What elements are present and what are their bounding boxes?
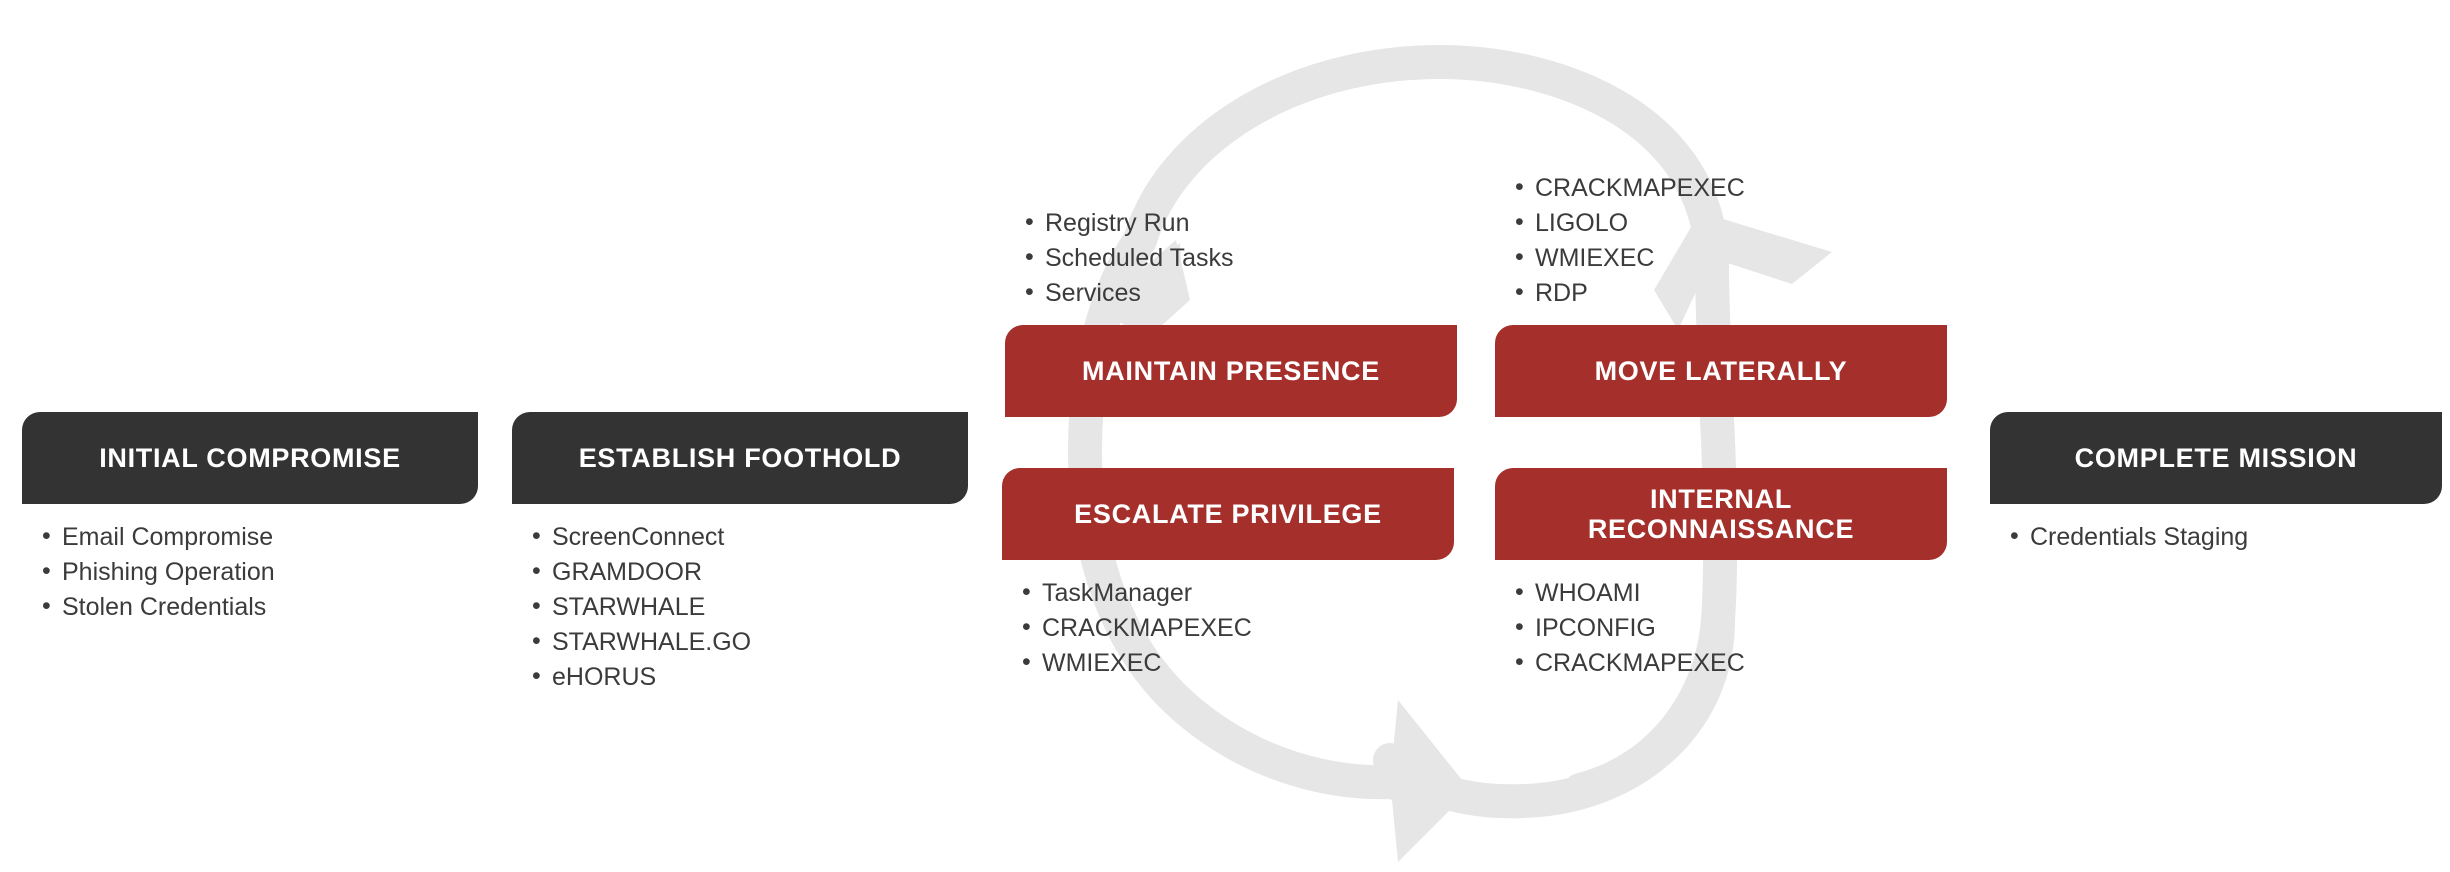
attack-lifecycle-diagram: INITIAL COMPROMISE Email Compromise Phis…: [0, 0, 2450, 872]
list-item: CRACKMAPEXEC: [1515, 646, 1947, 681]
bullet-list-internal-reconnaissance: WHOAMI IPCONFIG CRACKMAPEXEC: [1515, 576, 1947, 681]
list-item: eHORUS: [532, 660, 968, 695]
stage-box-internal-reconnaissance[interactable]: INTERNAL RECONNAISSANCE: [1495, 468, 1947, 560]
stage-box-move-laterally[interactable]: MOVE LATERALLY: [1495, 325, 1947, 417]
list-item: LIGOLO: [1515, 206, 1745, 241]
list-item: WMIEXEC: [1515, 241, 1745, 276]
stage-escalate-privilege[interactable]: ESCALATE PRIVILEGE TaskManager CRACKMAPE…: [1002, 468, 1454, 681]
list-item: Email Compromise: [42, 520, 478, 555]
list-item: ScreenConnect: [532, 520, 968, 555]
list-item: Credentials Staging: [2010, 520, 2442, 555]
list-item: Stolen Credentials: [42, 590, 478, 625]
list-item: RDP: [1515, 276, 1745, 311]
bullet-list-complete-mission: Credentials Staging: [2010, 520, 2442, 555]
list-item: GRAMDOOR: [532, 555, 968, 590]
stage-move-laterally[interactable]: CRACKMAPEXEC LIGOLO WMIEXEC RDP MOVE LAT…: [1495, 325, 1947, 417]
stage-establish-foothold[interactable]: ESTABLISH FOOTHOLD ScreenConnect GRAMDOO…: [512, 412, 968, 695]
stage-box-initial-compromise[interactable]: INITIAL COMPROMISE: [22, 412, 478, 504]
stage-box-establish-foothold[interactable]: ESTABLISH FOOTHOLD: [512, 412, 968, 504]
list-item: Scheduled Tasks: [1025, 241, 1234, 276]
stage-box-maintain-presence[interactable]: MAINTAIN PRESENCE: [1005, 325, 1457, 417]
stage-label-establish-foothold: ESTABLISH FOOTHOLD: [579, 443, 902, 473]
list-item: STARWHALE.GO: [532, 625, 968, 660]
stage-label-complete-mission: COMPLETE MISSION: [2075, 443, 2358, 473]
bullet-list-move-laterally: CRACKMAPEXEC LIGOLO WMIEXEC RDP: [1515, 171, 1745, 311]
list-item: STARWHALE: [532, 590, 968, 625]
list-item: Phishing Operation: [42, 555, 478, 590]
stage-box-escalate-privilege[interactable]: ESCALATE PRIVILEGE: [1002, 468, 1454, 560]
list-item: WMIEXEC: [1022, 646, 1454, 681]
stage-label-internal-reconnaissance: INTERNAL RECONNAISSANCE: [1588, 484, 1854, 544]
list-item: CRACKMAPEXEC: [1022, 611, 1454, 646]
list-item: Registry Run: [1025, 206, 1234, 241]
bullet-list-escalate-privilege: TaskManager CRACKMAPEXEC WMIEXEC: [1022, 576, 1454, 681]
stage-maintain-presence[interactable]: Registry Run Scheduled Tasks Services MA…: [1005, 325, 1457, 417]
list-item: IPCONFIG: [1515, 611, 1947, 646]
list-item: Services: [1025, 276, 1234, 311]
bullet-list-initial-compromise: Email Compromise Phishing Operation Stol…: [42, 520, 478, 625]
stage-label-initial-compromise: INITIAL COMPROMISE: [99, 443, 401, 473]
stage-label-maintain-presence: MAINTAIN PRESENCE: [1082, 356, 1380, 386]
stage-internal-reconnaissance[interactable]: INTERNAL RECONNAISSANCE WHOAMI IPCONFIG …: [1495, 468, 1947, 681]
bullet-list-establish-foothold: ScreenConnect GRAMDOOR STARWHALE STARWHA…: [532, 520, 968, 695]
stage-label-escalate-privilege: ESCALATE PRIVILEGE: [1074, 499, 1382, 529]
bullet-list-maintain-presence: Registry Run Scheduled Tasks Services: [1025, 206, 1234, 311]
list-item: TaskManager: [1022, 576, 1454, 611]
list-item: WHOAMI: [1515, 576, 1947, 611]
list-item: CRACKMAPEXEC: [1515, 171, 1745, 206]
stage-complete-mission[interactable]: COMPLETE MISSION Credentials Staging: [1990, 412, 2442, 555]
stage-box-complete-mission[interactable]: COMPLETE MISSION: [1990, 412, 2442, 504]
stage-initial-compromise[interactable]: INITIAL COMPROMISE Email Compromise Phis…: [22, 412, 478, 625]
stage-label-move-laterally: MOVE LATERALLY: [1595, 356, 1848, 386]
